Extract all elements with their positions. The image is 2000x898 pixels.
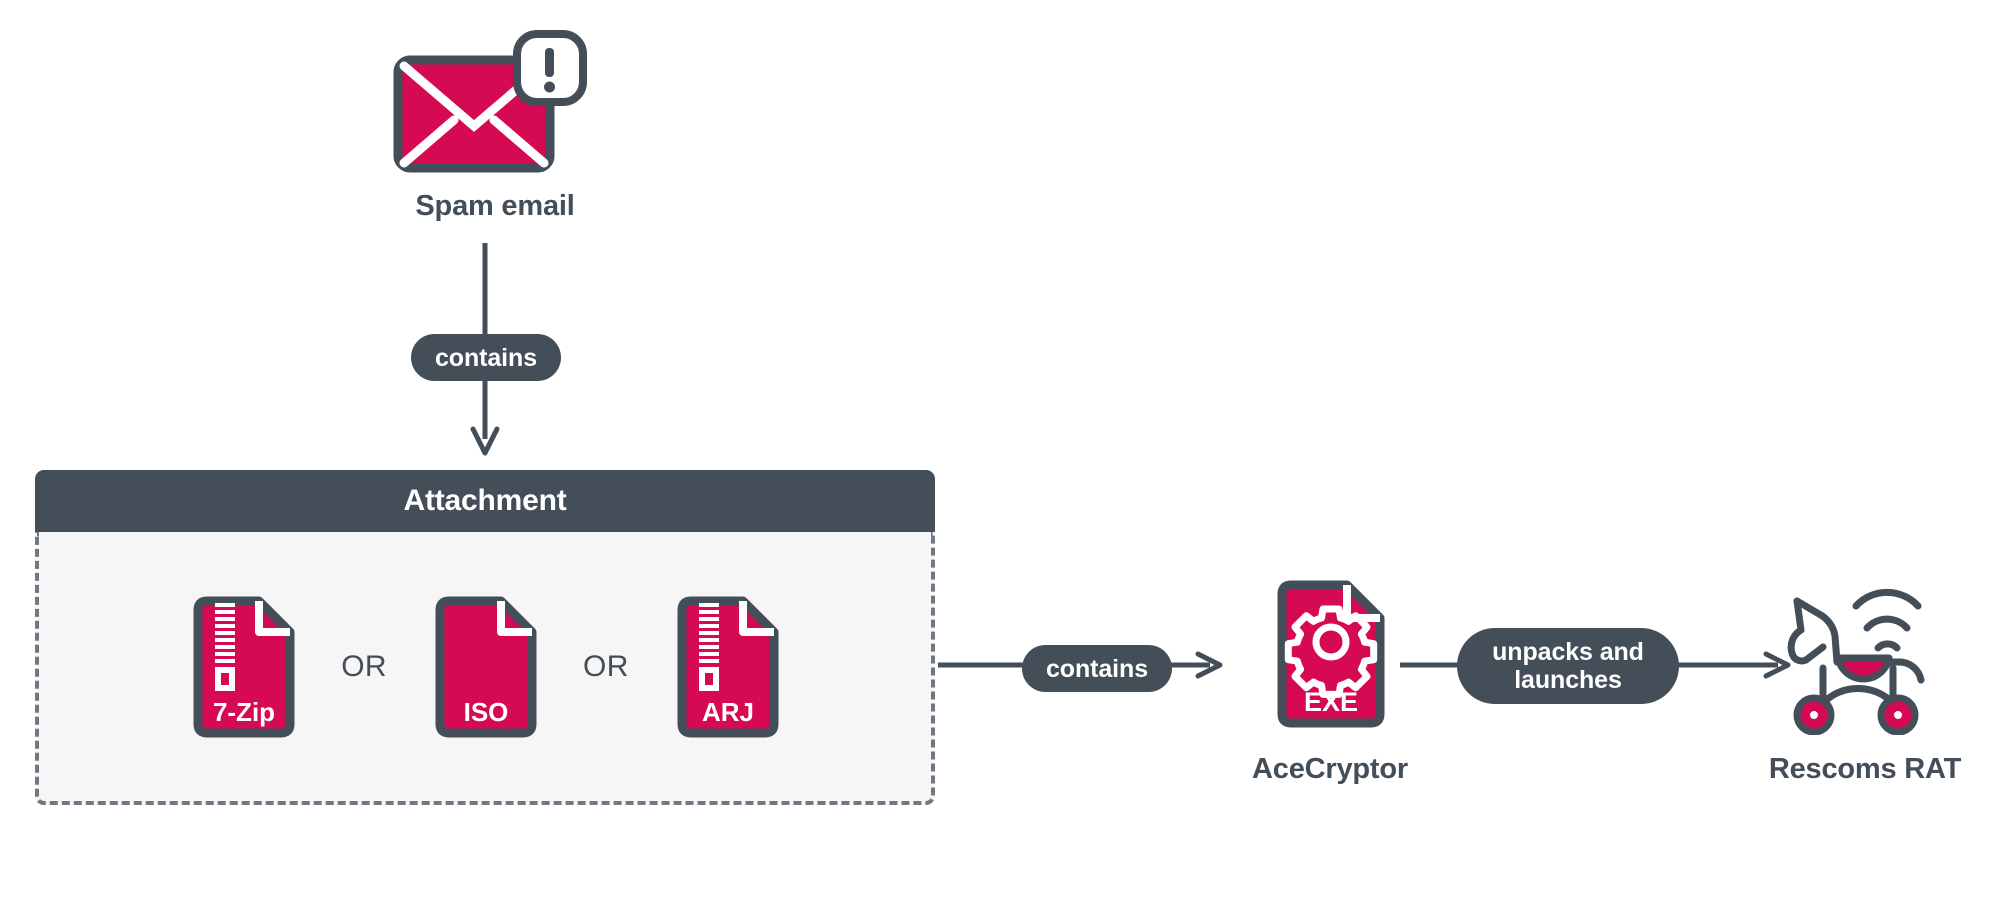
file-item-7zip[interactable]: 7-Zip (189, 596, 297, 738)
acecryptor-node: EXE (1273, 580, 1389, 730)
file-item-arj[interactable]: ARJ (673, 596, 781, 738)
arj-file-icon: ARJ (673, 596, 781, 738)
attachment-group: Attachment (35, 470, 935, 805)
rescoms-rat-label: Rescoms RAT (1730, 753, 2000, 786)
exe-gear-file-icon: EXE (1273, 580, 1389, 730)
file-label-iso: ISO (464, 697, 509, 727)
zip-file-icon: 7-Zip (189, 596, 297, 738)
file-label-arj: ARJ (702, 697, 754, 727)
or-separator-1: OR (297, 650, 431, 684)
edge-label-line-2: launches (1514, 666, 1622, 694)
iso-file-icon: ISO (431, 596, 539, 738)
attachment-header: Attachment (35, 470, 935, 532)
file-item-iso[interactable]: ISO (431, 596, 539, 738)
spam-email-label: Spam email (350, 190, 640, 223)
acecryptor-label: AceCryptor (1180, 753, 1480, 786)
diagram-canvas: Spam email contains Attachment (0, 0, 2000, 898)
edge-label-unpacks-and-launches: unpacks and launches (1457, 628, 1679, 704)
edge-label-contains-horizontal: contains (1022, 645, 1172, 692)
or-separator-2: OR (539, 650, 673, 684)
trojan-horse-icon (1775, 570, 1945, 735)
rescoms-rat-node (1775, 570, 1945, 735)
edge-label-line-1: unpacks and (1492, 638, 1644, 666)
attachment-body: 7-Zip OR ISO OR (35, 532, 935, 805)
exe-badge-label: EXE (1304, 687, 1358, 717)
edge-label-contains-vertical: contains (411, 334, 561, 381)
attachment-title: Attachment (403, 484, 566, 518)
file-label-7zip: 7-Zip (213, 697, 275, 727)
